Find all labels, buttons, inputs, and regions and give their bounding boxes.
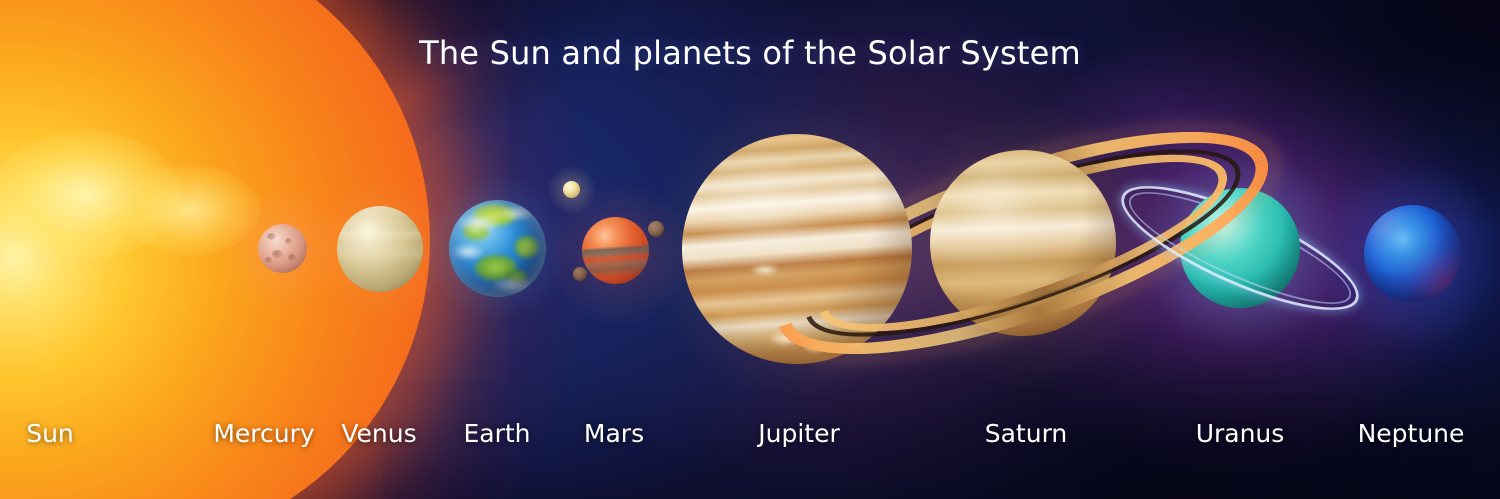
pale-moon-body[interactable] <box>563 181 580 198</box>
earth-body[interactable] <box>449 200 546 297</box>
mercury-crater <box>285 238 292 244</box>
mars-moon-phobos[interactable] <box>648 221 664 237</box>
solar-system-infographic: The Sun and planets of the Solar System <box>0 0 1500 499</box>
earth-cloud <box>459 214 499 232</box>
mercury-body[interactable] <box>258 224 307 273</box>
label-sun: Sun <box>26 419 74 448</box>
label-earth: Earth <box>463 419 530 448</box>
label-uranus: Uranus <box>1196 419 1285 448</box>
jupiter-storm-highlight <box>804 341 826 352</box>
page-title: The Sun and planets of the Solar System <box>0 34 1500 72</box>
mars-moon-deimos[interactable] <box>573 267 587 281</box>
mercury-crater <box>265 257 272 263</box>
mercury-crater <box>267 233 276 240</box>
earth-cloud <box>501 206 535 220</box>
label-jupiter: Jupiter <box>758 419 840 448</box>
label-mars: Mars <box>584 419 644 448</box>
neptune-body[interactable] <box>1364 205 1461 302</box>
label-mercury: Mercury <box>213 419 314 448</box>
jupiter-body[interactable] <box>682 134 912 364</box>
mars-body[interactable] <box>582 217 649 284</box>
mercury-crater <box>288 254 296 261</box>
label-saturn: Saturn <box>985 419 1068 448</box>
mercury-crater <box>272 250 283 258</box>
jupiter-storm-highlight <box>770 332 800 345</box>
label-neptune: Neptune <box>1358 419 1465 448</box>
label-venus: Venus <box>341 419 416 448</box>
earth-cloud <box>493 278 533 293</box>
venus-body[interactable] <box>337 206 423 292</box>
earth-cloud <box>453 244 483 260</box>
earth-landmass <box>515 236 539 258</box>
saturn-body[interactable] <box>930 150 1116 336</box>
jupiter-storm-highlight <box>752 265 778 275</box>
